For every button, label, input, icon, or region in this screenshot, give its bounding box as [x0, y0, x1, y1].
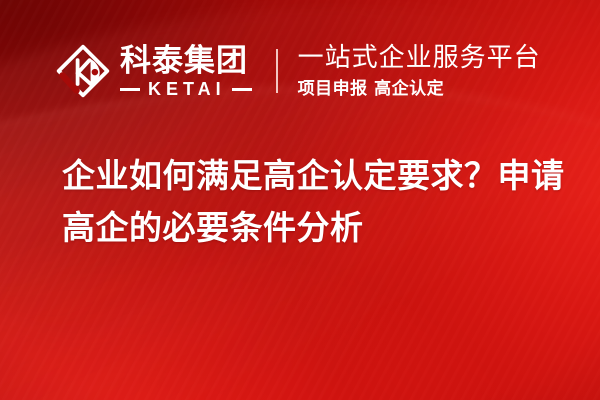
- ketai-diamond-monogram-icon: [56, 44, 110, 98]
- logo-company-name-en-row: KETAI: [120, 80, 252, 98]
- tagline-secondary: 项目申报 高企认定: [298, 78, 541, 100]
- promo-banner: 科泰集团 KETAI 一站式企业服务平台 项目申报 高企认定 企业如何满足高企认…: [0, 0, 600, 400]
- logo-rule-left-icon: [120, 88, 140, 91]
- brand-header: 科泰集团 KETAI 一站式企业服务平台 项目申报 高企认定: [56, 32, 541, 110]
- headline-line-2: 高企的必要条件分析: [62, 202, 562, 254]
- headline-block: 企业如何满足高企认定要求？申请 高企的必要条件分析: [62, 150, 562, 254]
- logo-company-name-en: KETAI: [146, 80, 226, 98]
- tagline-primary: 一站式企业服务平台: [298, 43, 541, 73]
- logo-rule-right-icon: [232, 88, 252, 91]
- tagline-block: 一站式企业服务平台 项目申报 高企认定: [298, 43, 541, 100]
- header-divider: [276, 49, 278, 93]
- logo-wordmark: 科泰集团 KETAI: [120, 44, 252, 98]
- headline-line-1: 企业如何满足高企认定要求？申请: [62, 150, 562, 202]
- logo-company-name-cn: 科泰集团: [120, 44, 252, 78]
- logo-lockup[interactable]: 科泰集团 KETAI: [56, 32, 252, 110]
